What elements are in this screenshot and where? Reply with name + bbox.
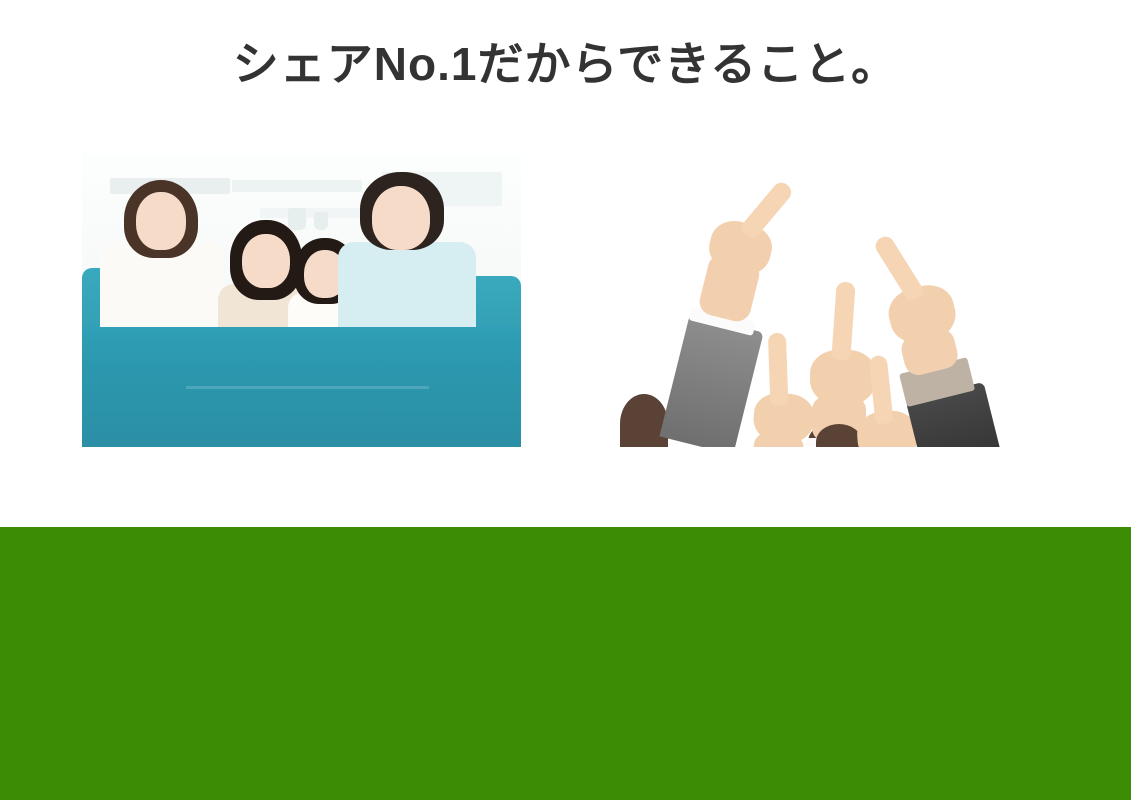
page-title: シェアNo.1だからできること。 xyxy=(0,34,1131,94)
jar-decor xyxy=(288,208,306,230)
shelf-decor xyxy=(232,180,362,192)
family-on-sofa-photo xyxy=(82,150,521,447)
background-head-left xyxy=(620,394,668,447)
jar-decor xyxy=(314,212,328,230)
sofa-seam xyxy=(186,386,429,389)
father-face xyxy=(372,186,430,250)
sofa-seat xyxy=(82,327,521,447)
index-finger xyxy=(831,281,855,360)
page-root: シェアNo.1だからできること。 xyxy=(0,0,1131,800)
index-finger xyxy=(768,333,789,406)
daughter-face xyxy=(242,234,290,288)
raised-pointing-hands-photo xyxy=(610,150,1041,447)
mother-face xyxy=(136,192,186,250)
green-band: 飯田グループは、年間約46000戸以上の家を提供しています。 建築資材の一括仕入… xyxy=(0,527,1131,800)
